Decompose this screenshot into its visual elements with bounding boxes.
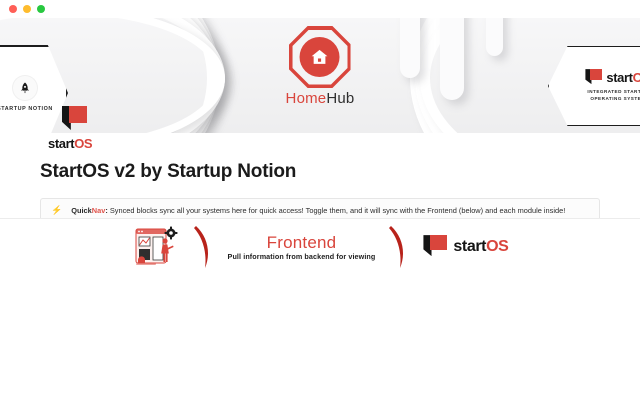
homehub-name-primary: Home [286, 90, 327, 107]
startos-wordmark: startOS [606, 70, 640, 85]
maximize-window-button[interactable] [37, 5, 45, 13]
footer-startos-start: start [453, 238, 486, 255]
footer-startos-wordmark: startOS [453, 238, 508, 256]
startos-system-badge[interactable]: startOS INTEGRATED STARTUP OPERATING SYS… [548, 46, 640, 126]
minimize-window-button[interactable] [23, 5, 31, 13]
frontend-title-block: Frontend Pull information from backend f… [228, 233, 376, 261]
lightning-bolt-icon: ⚡ [51, 206, 62, 215]
startos-flag-icon [585, 69, 602, 86]
frontend-subtitle: Pull information from backend for viewin… [228, 252, 376, 261]
startos-badge-subtitle-line2: OPERATING SYSTEM [587, 96, 640, 103]
quicknav-callout-text: QuickNav: Synced blocks sync all your sy… [71, 206, 565, 216]
page-title: StartOS v2 by Startup Notion [40, 161, 600, 183]
quicknav-label-bold: Quick [71, 206, 92, 215]
home-octagon-icon [289, 26, 351, 88]
startos-badge-subtitle: INTEGRATED STARTUP OPERATING SYSTEM [587, 89, 640, 103]
frontend-title: Frontend [267, 233, 337, 253]
startos-flag-icon-under-badge [62, 106, 88, 132]
window-title-bar [0, 0, 640, 18]
quicknav-label-accent: Nav [92, 206, 106, 215]
homehub-wordmark: HomeHub [286, 90, 355, 107]
footer-startos-logo: startOS [423, 235, 508, 259]
footer-startos-os: OS [486, 238, 508, 255]
page-cover-banner: STARTUP NOTION HomeHub startOS [0, 18, 640, 133]
quicknav-body-text: Synced blocks sync all your systems here… [108, 206, 565, 215]
rocket-icon [12, 75, 38, 101]
frontend-footer-banner: Frontend Pull information from backend f… [0, 218, 640, 276]
startos-word-os: OS [633, 70, 640, 85]
startos-badge-subtitle-line1: INTEGRATED STARTUP [587, 89, 640, 96]
homehub-name-secondary: Hub [326, 90, 354, 107]
close-window-button[interactable] [9, 5, 17, 13]
startos-flag-icon-footer [423, 235, 447, 259]
dashboard-person-illustration [132, 224, 180, 270]
left-swoosh-icon [194, 224, 214, 270]
startup-notion-badge-label: STARTUP NOTION [0, 106, 53, 112]
right-swoosh-icon [389, 224, 409, 270]
homehub-logo-block: HomeHub [286, 26, 355, 107]
page-content: StartOS v2 by Startup Notion ⚡ QuickNav:… [0, 133, 640, 276]
startos-word-start: start [606, 70, 632, 85]
